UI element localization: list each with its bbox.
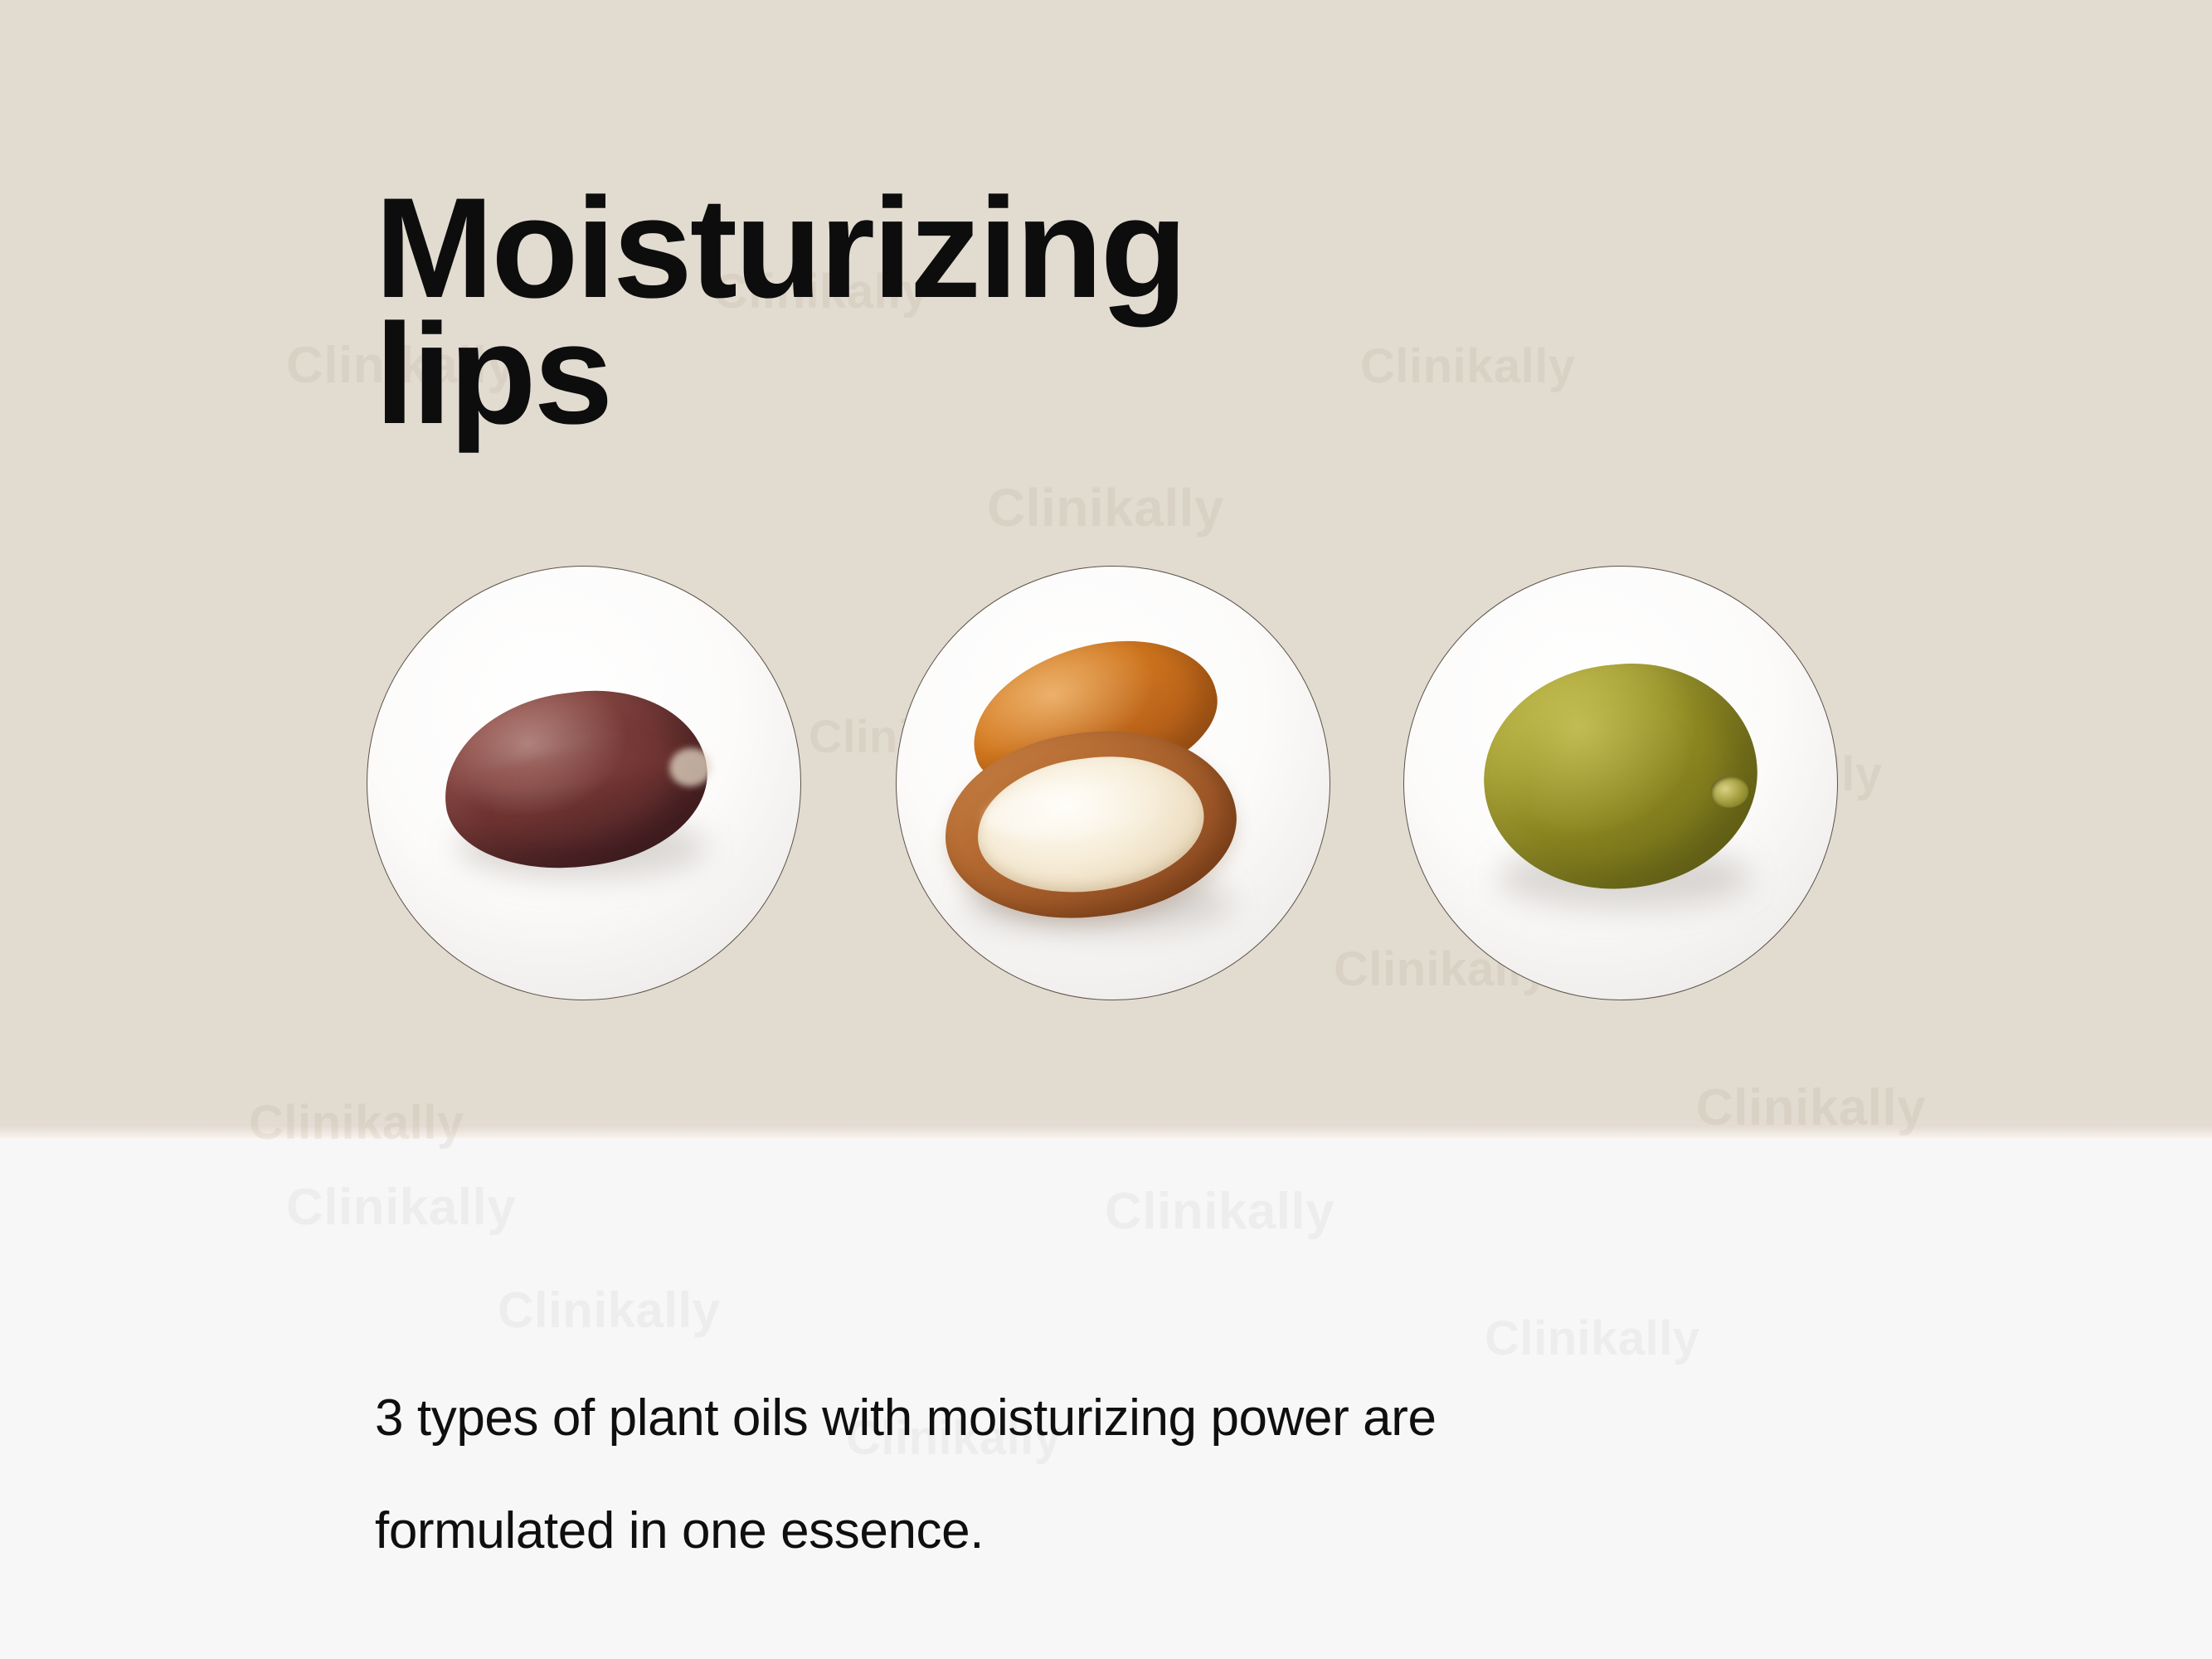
ingredient-circle-argan-nut [896,566,1330,1000]
page-title-line-1: Moisturizing [375,185,1536,311]
caption-line-1: 3 types of plant oils with moisturizing … [375,1362,1884,1475]
page-title: Moisturizing lips [375,185,1536,437]
caption-line-2: formulated in one essence. [375,1475,1884,1588]
product-feature-slide: Clinikally Clinikally Clinikally Clinika… [0,0,2212,1659]
ingredient-circle-row [367,566,1838,1000]
page-title-line-2: lips [375,311,1536,437]
argan-nut-icon [897,567,1330,1000]
ingredient-circle-olive [1403,566,1838,1000]
ingredient-circle-jojoba-seed [367,566,801,1000]
olive-icon [1404,567,1837,1000]
caption-text: 3 types of plant oils with moisturizing … [375,1362,1884,1588]
jojoba-seed-icon [367,567,800,1000]
